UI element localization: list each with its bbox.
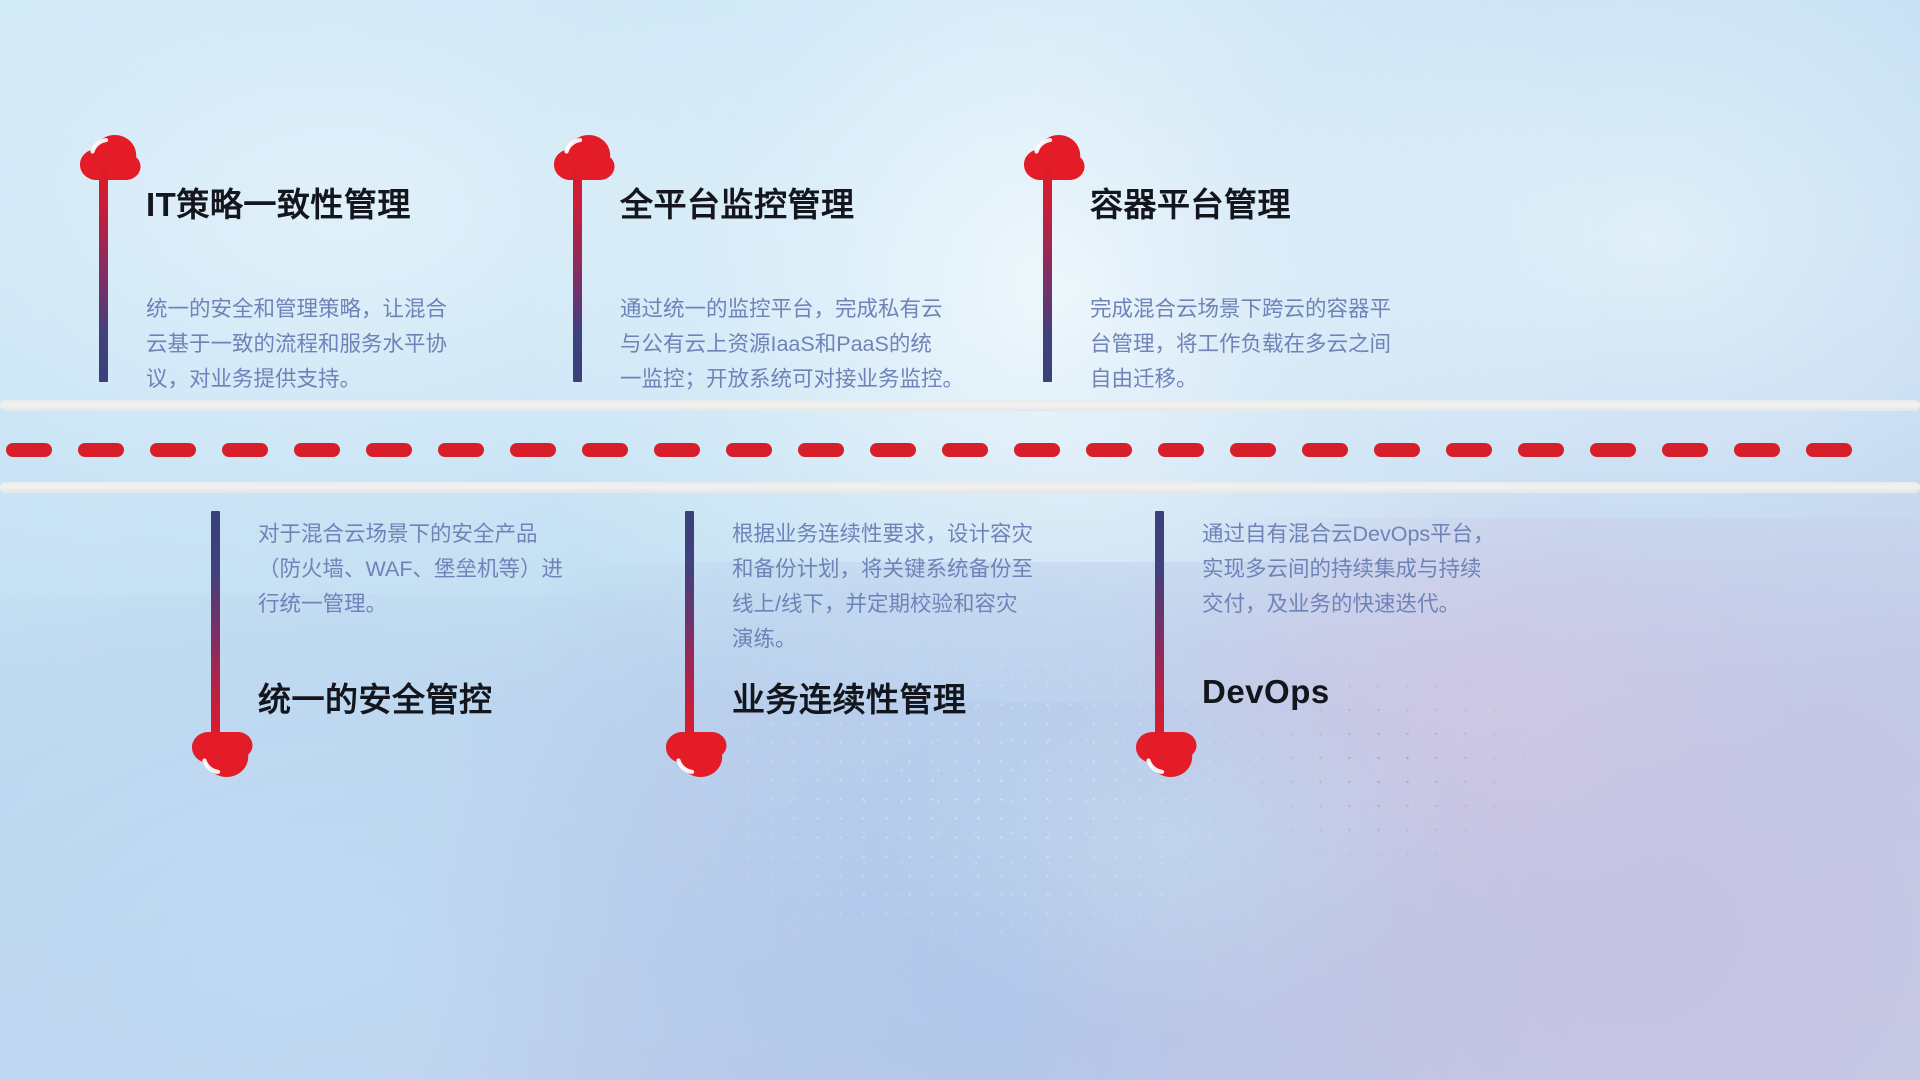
dash-segment [438,443,484,457]
dash-segment [870,443,916,457]
body-line: 行统一管理。 [258,587,623,622]
card-title: 业务连续性管理 [732,673,967,721]
dash-segment [1014,443,1060,457]
divider-bar-bottom [0,482,1920,493]
body-line: 和备份计划，将关键系统备份至 [732,552,1112,587]
card-body: 通过统一的监控平台，完成私有云 与公有云上资源IaaS和PaaS的统 一监控；开… [620,292,1000,397]
dash-segment [1662,443,1708,457]
body-line: 对于混合云场景下的安全产品 [258,517,623,552]
connector-stem [211,511,220,743]
card-body: 对于混合云场景下的安全产品 （防火墙、WAF、堡垒机等）进 行统一管理。 [258,517,623,622]
body-line: 云基于一致的流程和服务水平协 [146,327,511,362]
dash-segment [222,443,268,457]
body-line: 交付，及业务的快速迭代。 [1202,587,1567,622]
card-title: 统一的安全管控 [258,673,493,721]
card-title: IT策略一致性管理 [146,178,411,226]
top-row: IT策略一致性管理 统一的安全和管理策略，让混合 云基于一致的流程和服务水平协 … [0,0,1920,400]
body-line: 完成混合云场景下跨云的容器平 [1090,292,1455,327]
dash-segment [654,443,700,457]
body-line: 通过自有混合云DevOps平台， [1202,517,1567,552]
dash-segment [1158,443,1204,457]
body-line: 统一的安全和管理策略，让混合 [146,292,511,327]
card-title: DevOps [1202,673,1330,711]
connector-stem [573,170,582,382]
connector-stem [1155,511,1164,743]
cloud-icon [665,731,727,778]
body-line: 线上/线下，并定期校验和容灾 [732,587,1112,622]
dash-segment [582,443,628,457]
dash-segment [1446,443,1492,457]
dash-segment [1374,443,1420,457]
dash-segment [6,443,52,457]
connector-stem [99,170,108,382]
body-line: 台管理，将工作负载在多云之间 [1090,327,1455,362]
body-line: 实现多云间的持续集成与持续 [1202,552,1567,587]
dash-segment [1230,443,1276,457]
card-title: 容器平台管理 [1090,178,1291,226]
card-body: 完成混合云场景下跨云的容器平 台管理，将工作负载在多云之间 自由迁移。 [1090,292,1455,397]
cloud-icon [553,134,615,181]
connector-stem [1043,170,1052,382]
dash-segment [78,443,124,457]
dash-segment [1734,443,1780,457]
dashed-separator [0,443,1920,457]
body-line: 通过统一的监控平台，完成私有云 [620,292,1000,327]
dash-segment [726,443,772,457]
dash-segment [150,443,196,457]
body-line: 一监控；开放系统可对接业务监控。 [620,362,1000,397]
body-line: （防火墙、WAF、堡垒机等）进 [258,552,623,587]
body-line: 议，对业务提供支持。 [146,362,511,397]
dash-segment [510,443,556,457]
body-line: 自由迁移。 [1090,362,1455,397]
card-body: 统一的安全和管理策略，让混合 云基于一致的流程和服务水平协 议，对业务提供支持。 [146,292,511,397]
dash-segment [366,443,412,457]
cloud-icon [1023,134,1085,181]
connector-stem [685,511,694,743]
dash-segment [1590,443,1636,457]
dash-segment [294,443,340,457]
dash-segment [798,443,844,457]
cloud-icon [79,134,141,181]
cloud-icon [191,731,253,778]
body-line: 与公有云上资源IaaS和PaaS的统 [620,327,1000,362]
dash-segment [1302,443,1348,457]
card-body: 通过自有混合云DevOps平台， 实现多云间的持续集成与持续 交付，及业务的快速… [1202,517,1567,622]
cloud-icon [1135,731,1197,778]
divider-bar-top [0,400,1920,411]
body-line: 演练。 [732,622,1112,657]
bottom-row: 对于混合云场景下的安全产品 （防火墙、WAF、堡垒机等）进 行统一管理。 统一的… [0,493,1920,1013]
card-title: 全平台监控管理 [620,178,855,226]
body-line: 根据业务连续性要求，设计容灾 [732,517,1112,552]
dash-segment [1806,443,1852,457]
card-body: 根据业务连续性要求，设计容灾 和备份计划，将关键系统备份至 线上/线下，并定期校… [732,517,1112,657]
dash-segment [1518,443,1564,457]
dash-segment [942,443,988,457]
dash-segment [1086,443,1132,457]
